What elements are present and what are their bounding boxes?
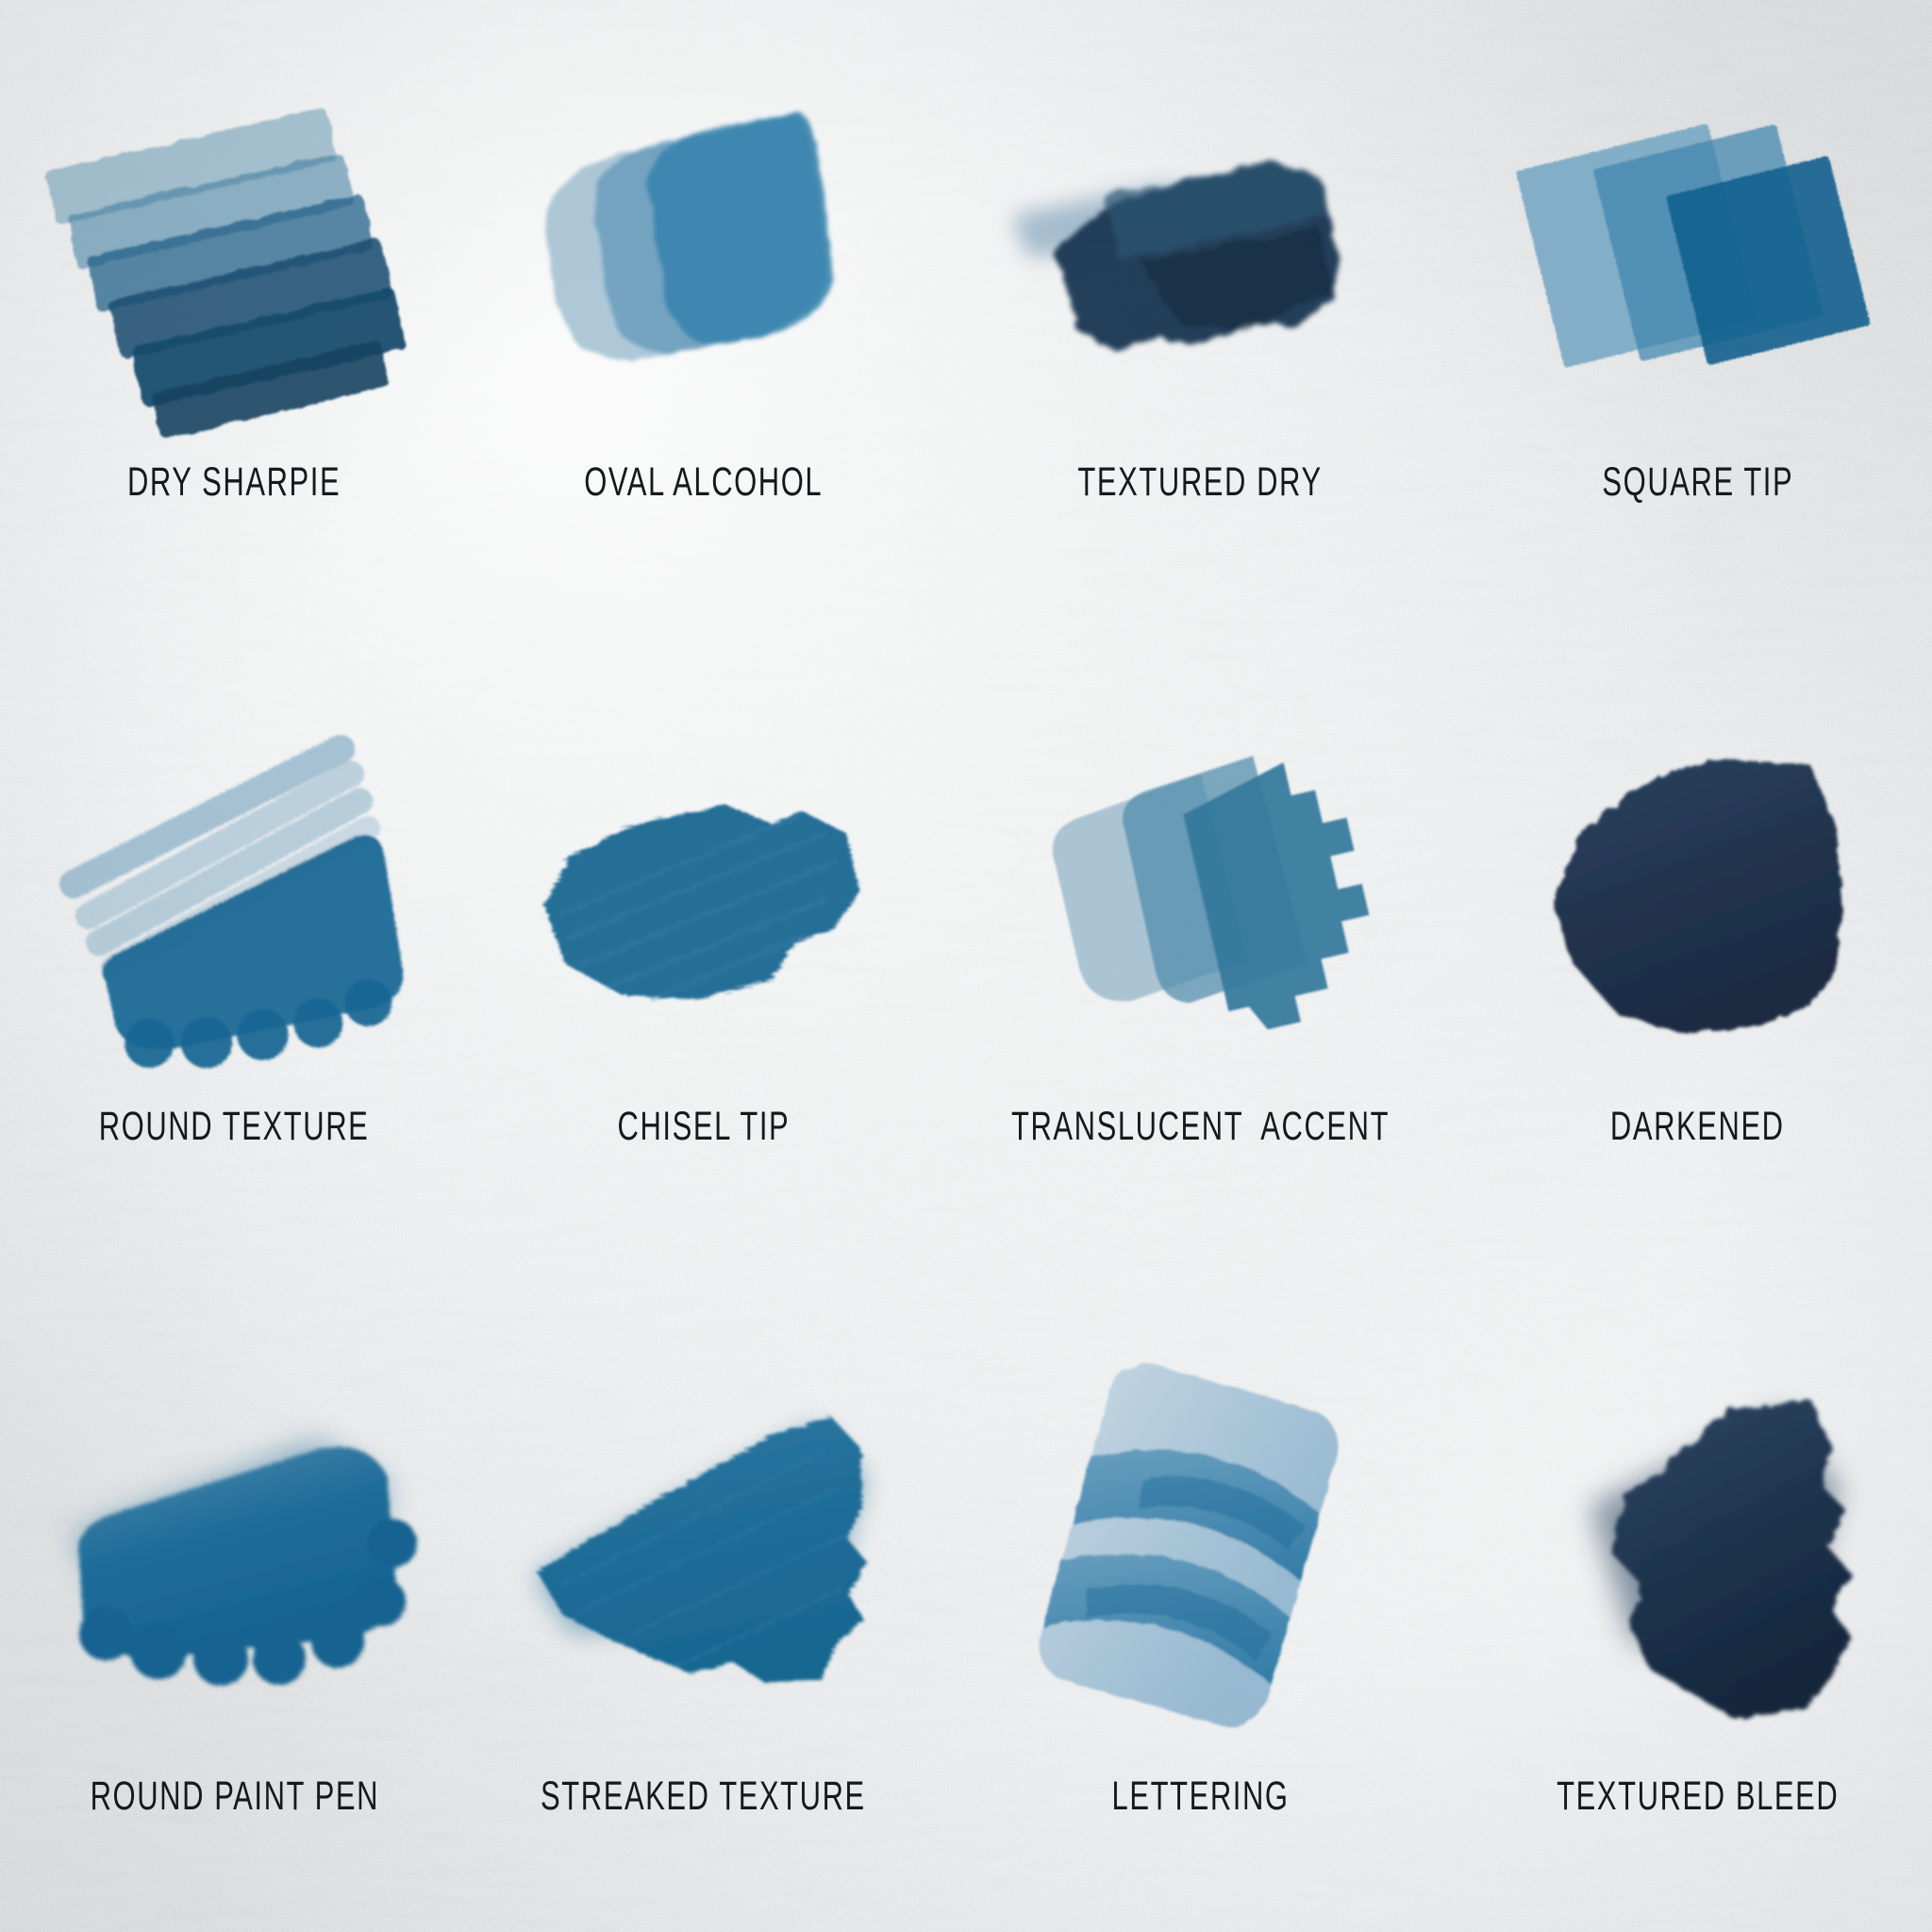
swatch-art-translucent-accent: [938, 701, 1463, 1078]
swatch-cell-lettering[interactable]: LETTERING: [938, 1288, 1463, 1932]
swatch-art-dry-sharpie: [0, 74, 469, 441]
swatch-cell-dry-sharpie[interactable]: DRY SHARPIE: [0, 0, 469, 644]
swatch-label-streaked-texture: STREAKED TEXTURE: [541, 1776, 866, 1817]
swatch-label-textured-dry: TEXTURED DRY: [1078, 462, 1323, 503]
swatch-cell-textured-dry[interactable]: TEXTURED DRY: [938, 0, 1463, 644]
swatch-art-round-texture: [0, 701, 469, 1078]
swatch-label-translucent-accent: TRANSLUCENT ACCENT: [1011, 1107, 1390, 1147]
swatch-art-oval-alcohol: [469, 74, 938, 441]
swatch-label-square-tip: SQUARE TIP: [1602, 462, 1793, 503]
swatch-cell-round-texture[interactable]: ROUND TEXTURE: [0, 644, 469, 1289]
swatch-art-chisel-tip: [469, 701, 938, 1078]
swatch-cell-darkened[interactable]: DARKENED: [1463, 644, 1932, 1289]
swatch-art-lettering: [938, 1354, 1463, 1750]
swatch-cell-streaked-texture[interactable]: STREAKED TEXTURE: [469, 1288, 938, 1932]
swatch-cell-translucent-accent[interactable]: TRANSLUCENT ACCENT: [938, 644, 1463, 1289]
swatch-art-square-tip: [1463, 74, 1932, 441]
swatch-label-lettering: LETTERING: [1111, 1776, 1289, 1817]
swatch-grid: DRY SHARPIE: [0, 0, 1932, 1932]
swatch-label-darkened: DARKENED: [1610, 1107, 1785, 1147]
swatch-label-oval-alcohol: OVAL ALCOHOL: [584, 462, 823, 503]
swatch-art-darkened: [1463, 701, 1932, 1078]
swatch-cell-chisel-tip[interactable]: CHISEL TIP: [469, 644, 938, 1289]
swatch-sheet: DRY SHARPIE: [0, 0, 1932, 1932]
swatch-cell-round-paint-pen[interactable]: ROUND PAINT PEN: [0, 1288, 469, 1932]
swatch-art-textured-bleed: [1463, 1354, 1932, 1750]
swatch-cell-square-tip[interactable]: SQUARE TIP: [1463, 0, 1932, 644]
swatch-art-textured-dry: [938, 74, 1463, 441]
swatch-label-textured-bleed: TEXTURED BLEED: [1557, 1776, 1839, 1817]
swatch-cell-oval-alcohol[interactable]: OVAL ALCOHOL: [469, 0, 938, 644]
swatch-label-round-paint-pen: ROUND PAINT PEN: [90, 1776, 378, 1817]
swatch-label-dry-sharpie: DRY SHARPIE: [127, 462, 341, 503]
swatch-art-round-paint-pen: [0, 1354, 469, 1750]
swatch-cell-textured-bleed[interactable]: TEXTURED BLEED: [1463, 1288, 1932, 1932]
swatch-art-streaked-texture: [469, 1354, 938, 1750]
swatch-label-chisel-tip: CHISEL TIP: [617, 1107, 790, 1147]
swatch-label-round-texture: ROUND TEXTURE: [99, 1107, 370, 1147]
